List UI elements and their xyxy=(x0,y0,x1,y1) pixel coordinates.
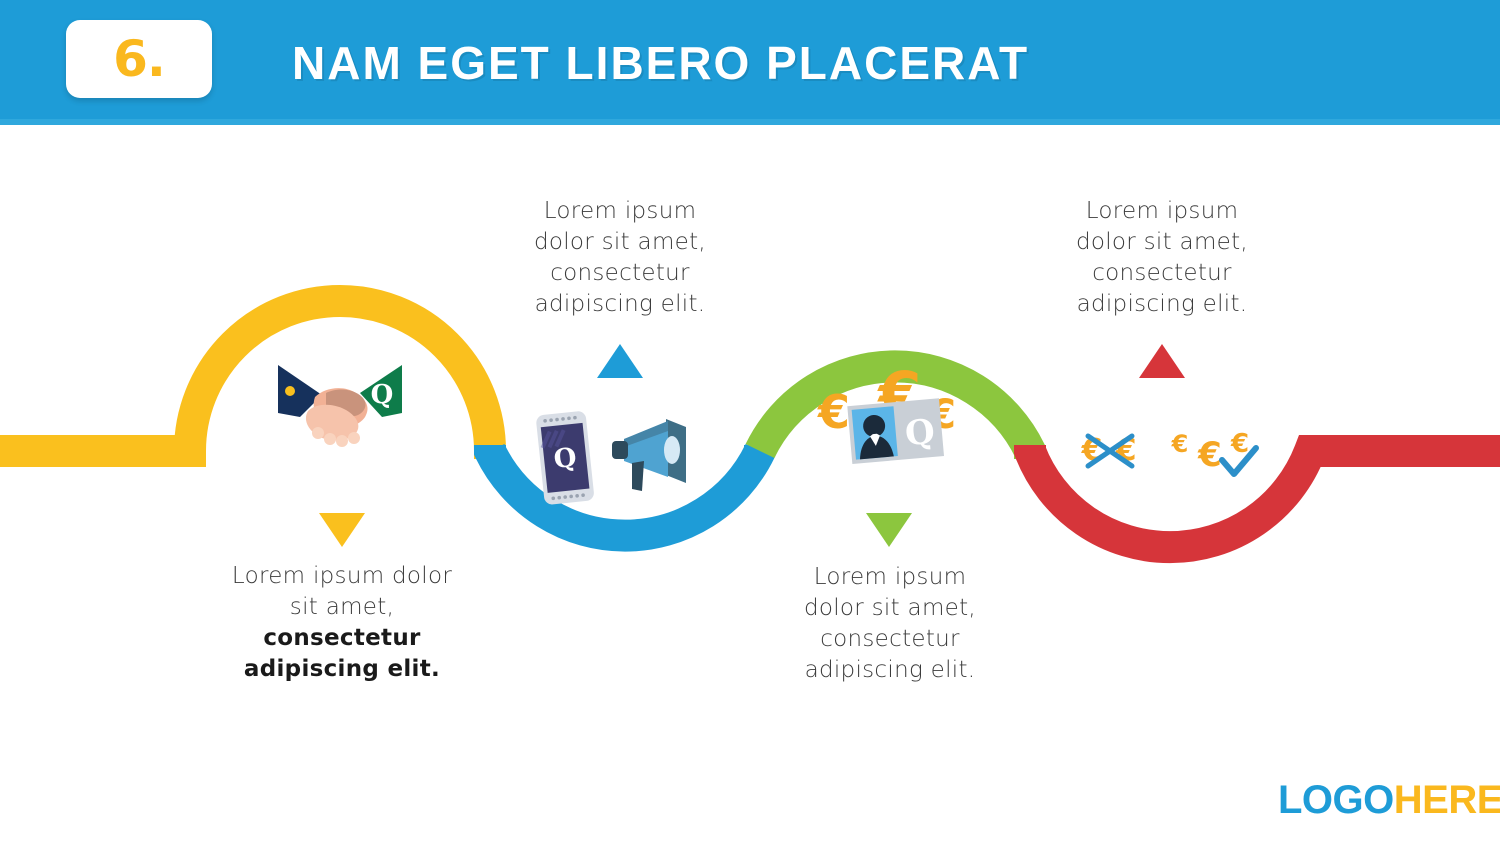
marker-triangle-step-4 xyxy=(1139,344,1185,378)
text-line: consectetur xyxy=(1034,258,1290,289)
step-number-badge: 6. xyxy=(66,20,212,98)
text-line: adipiscing elit. xyxy=(492,289,748,320)
euro-id-card-icon: € € € Q xyxy=(812,360,982,474)
logo-part-primary: LOGO xyxy=(1278,778,1394,822)
text-line: consectetur xyxy=(492,258,748,289)
text-line: Lorem ipsum dolor xyxy=(196,561,488,592)
step-number-label: 6. xyxy=(113,34,165,84)
page-title: NAM EGET LIBERO PLACERAT xyxy=(292,36,1029,90)
text-line: adipiscing elit. xyxy=(762,655,1018,686)
card-letter: Q xyxy=(903,412,936,454)
text-line: adipiscing elit. xyxy=(196,654,488,685)
step-2-description: Lorem ipsum dolor sit amet, consectetur … xyxy=(492,196,748,320)
step-4-description: Lorem ipsum dolor sit amet, consectetur … xyxy=(1034,196,1290,320)
handshake-icon: Q xyxy=(270,355,410,459)
euro-symbol-b2: € xyxy=(1197,435,1222,475)
logo-part-secondary: HERE xyxy=(1394,778,1500,822)
euro-symbol-b3: € xyxy=(1230,429,1249,459)
marker-triangle-step-3 xyxy=(866,513,912,547)
text-line: dolor sit amet, xyxy=(492,227,748,258)
sleeve-letter: Q xyxy=(371,380,394,410)
slide-header: 6. NAM EGET LIBERO PLACERAT xyxy=(0,0,1500,119)
smartphone-megaphone-icon: Q xyxy=(522,405,702,514)
phone-letter: Q xyxy=(552,443,578,475)
logo[interactable]: LOGOHERE xyxy=(1278,780,1500,820)
text-line: consectetur xyxy=(762,624,1018,655)
slide-root: 6. NAM EGET LIBERO PLACERAT Lorem ipsum … xyxy=(0,0,1500,844)
euro-cross-check-icon: € € € € € xyxy=(1076,418,1266,488)
marker-triangle-step-1 xyxy=(319,513,365,547)
text-line: adipiscing elit. xyxy=(1034,289,1290,320)
wave-segment-yellow xyxy=(0,301,490,459)
marker-triangle-step-2 xyxy=(597,344,643,378)
text-line: sit amet, xyxy=(196,592,488,623)
text-line: Lorem ipsum xyxy=(492,196,748,227)
text-line: dolor sit amet, xyxy=(762,593,1018,624)
euro-symbol-left: € xyxy=(817,385,850,439)
text-line: dolor sit amet, xyxy=(1034,227,1290,258)
text-line: Lorem ipsum xyxy=(1034,196,1290,227)
text-line: Lorem ipsum xyxy=(762,562,1018,593)
text-line: consectetur xyxy=(196,623,488,654)
euro-symbol-b1: € xyxy=(1171,430,1189,458)
step-3-description: Lorem ipsum dolor sit amet, consectetur … xyxy=(762,562,1018,686)
step-1-description: Lorem ipsum dolor sit amet, consectetur … xyxy=(196,561,488,685)
